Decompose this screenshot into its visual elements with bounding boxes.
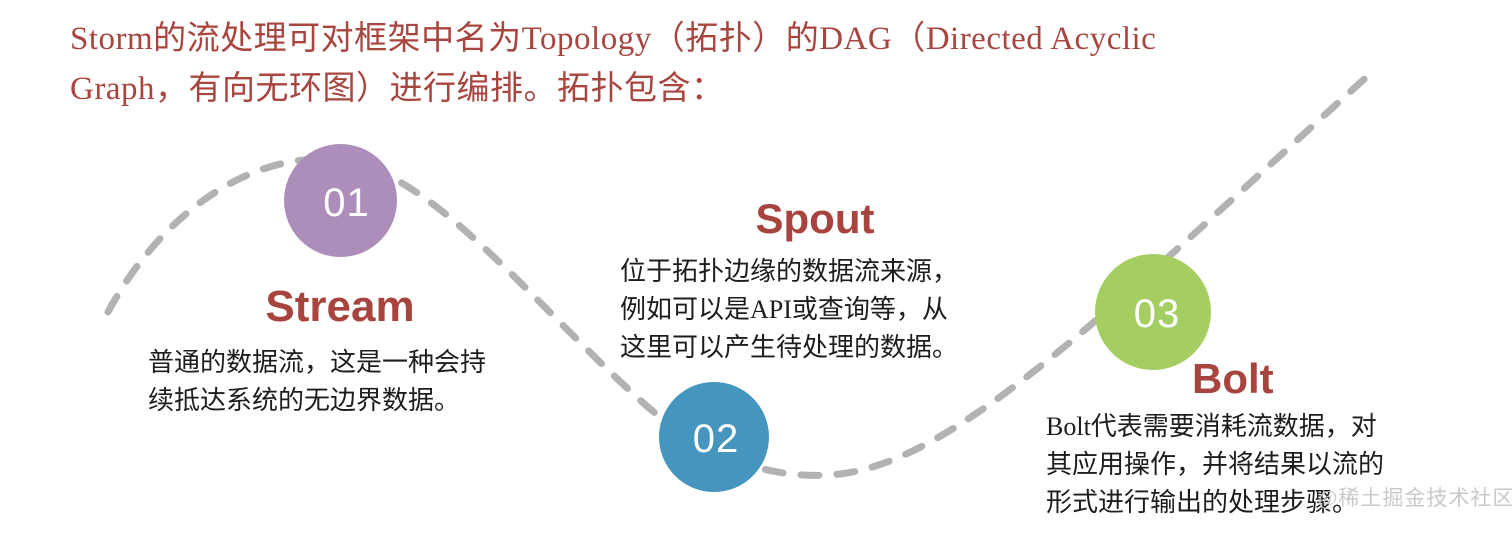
section-spout: Spout 位于拓扑边缘的数据流来源， 例如可以是API或查询等，从 这里可以产… bbox=[610, 198, 1020, 367]
node-number-03: 03 bbox=[1134, 294, 1181, 334]
node-circle-02[interactable]: 02 bbox=[659, 382, 769, 492]
node-number-01: 01 bbox=[323, 183, 370, 223]
node-circle-01[interactable]: 01 bbox=[284, 144, 397, 257]
node-number-02: 02 bbox=[693, 419, 740, 459]
section-title-stream: Stream bbox=[130, 285, 550, 329]
section-title-bolt: Bolt bbox=[1040, 358, 1470, 400]
intro-paragraph: Storm的流处理可对框架中名为Topology（拓扑）的DAG（Directe… bbox=[70, 14, 1360, 114]
section-stream: Stream 普通的数据流，这是一种会持 续抵达系统的无边界数据。 bbox=[130, 285, 550, 420]
section-title-spout: Spout bbox=[610, 198, 1020, 240]
section-body-spout: 位于拓扑边缘的数据流来源， 例如可以是API或查询等，从 这里可以产生待处理的数… bbox=[610, 253, 1020, 367]
watermark-label: @稀土掘金技术社区 bbox=[1318, 482, 1512, 512]
section-body-stream: 普通的数据流，这是一种会持 续抵达系统的无边界数据。 bbox=[130, 344, 550, 420]
slide-canvas: Storm的流处理可对框架中名为Topology（拓扑）的DAG（Directe… bbox=[0, 0, 1512, 535]
node-circle-03[interactable]: 03 bbox=[1095, 254, 1211, 370]
